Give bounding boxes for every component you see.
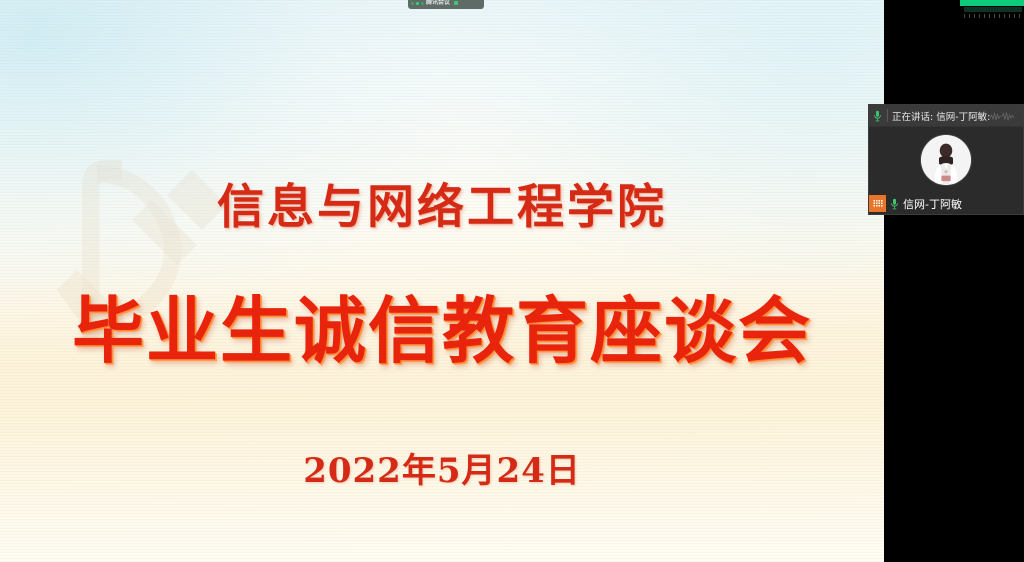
avatar [921, 135, 971, 185]
slide-text-block: 信息与网络工程学院 毕业生诚信教育座谈会 2022年5月24日 [0, 0, 884, 562]
video-panel-body [869, 127, 1023, 193]
green-accent-bar-ticks [964, 14, 1020, 18]
green-accent-bar-shadow [964, 7, 1022, 12]
participant-name-label: 信网-丁阿敏 [903, 196, 962, 212]
speaking-status-label: 正在讲话: 信网-丁阿敏: [892, 109, 990, 123]
slide-subtitle: 信息与网络工程学院 [0, 168, 884, 237]
host-badge-icon [869, 195, 886, 212]
shared-screen-slide: 信息与网络工程学院 毕业生诚信教育座谈会 2022年5月24日 腾讯会议 [0, 0, 884, 562]
active-speaker-video-panel[interactable]: 正在讲话: 信网-丁阿敏: [868, 104, 1024, 215]
toolbar-status-dot-2 [416, 2, 419, 5]
green-accent-bar [960, 0, 1024, 6]
video-panel-footer: 信网-丁阿敏 [869, 193, 1023, 214]
screen-root: 信息与网络工程学院 毕业生诚信教育座谈会 2022年5月24日 腾讯会议 [0, 0, 1024, 562]
microphone-icon [871, 109, 883, 123]
meeting-toolbar[interactable]: 腾讯会议 [408, 0, 484, 9]
video-panel-header: 正在讲话: 信网-丁阿敏: [869, 105, 1023, 127]
header-divider [887, 109, 888, 122]
toolbar-status-dot-1 [411, 2, 414, 5]
toolbar-stop-share-icon[interactable] [454, 1, 458, 5]
slide-date: 2022年5月24日 [0, 443, 884, 492]
slide-main-title: 毕业生诚信教育座谈会 [0, 272, 884, 377]
toolbar-app-label: 腾讯会议 [426, 0, 450, 6]
letterbox-right [884, 0, 1024, 562]
microphone-icon[interactable] [889, 197, 900, 211]
toolbar-status-dot-3 [421, 2, 424, 5]
audio-waveform-icon [989, 110, 1015, 123]
